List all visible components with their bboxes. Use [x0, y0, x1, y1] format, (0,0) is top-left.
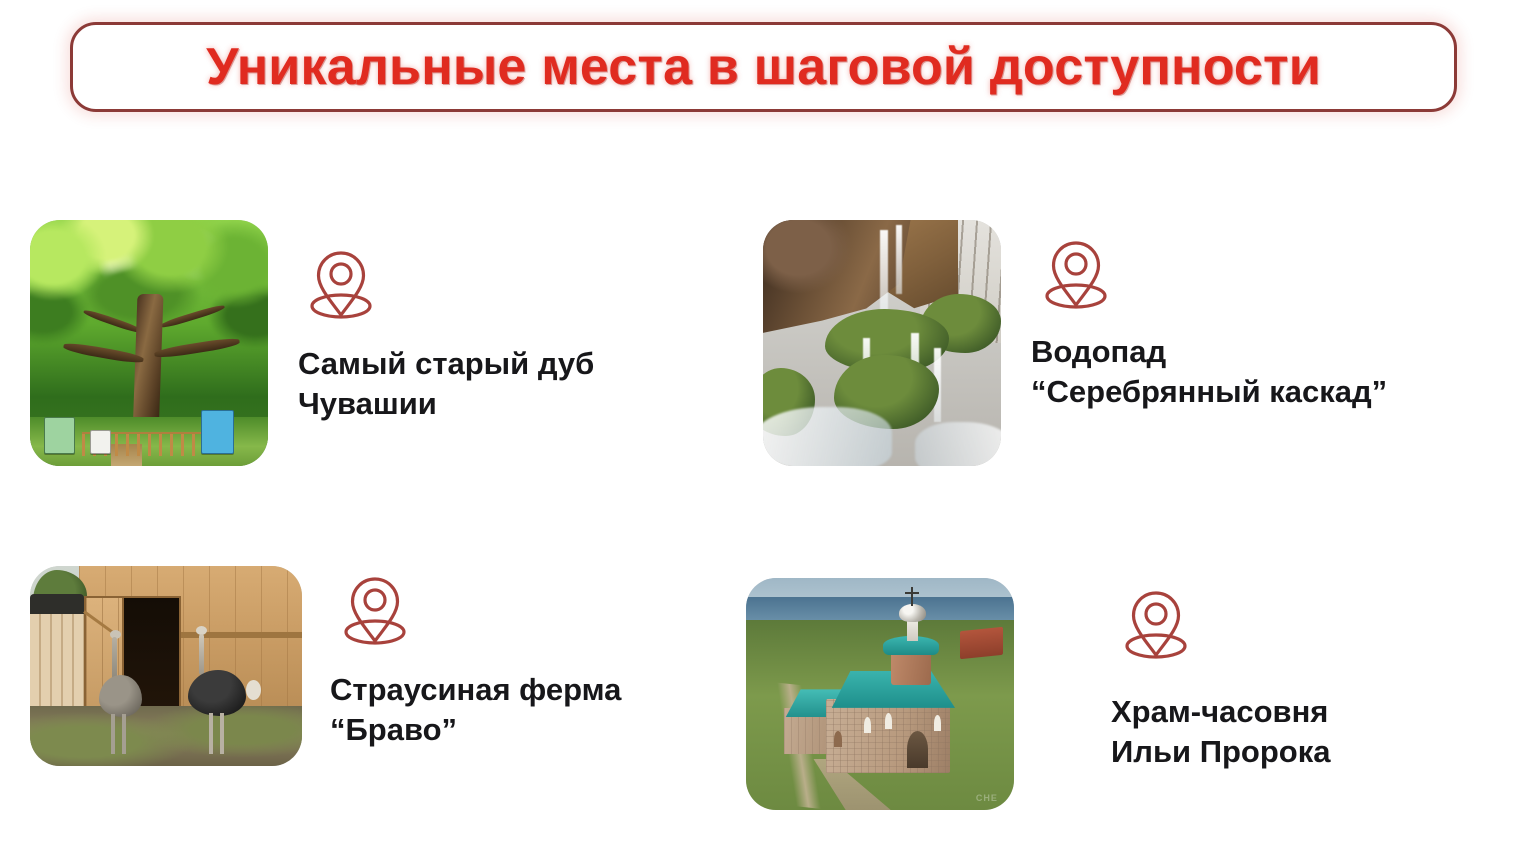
chapel-main-body	[826, 699, 949, 773]
place-card-old-oak: Самый старый дуб Чувашии	[30, 220, 594, 466]
waterfall-stream	[896, 225, 901, 294]
chapel-village-house	[960, 627, 1003, 659]
waterfall-pool	[763, 407, 892, 466]
old-oak-tree-photo	[30, 220, 268, 466]
chapel-entrance-porch	[907, 731, 928, 768]
oak-trunk	[132, 294, 163, 437]
ostrich-farm-photo	[30, 566, 302, 766]
ostrich-farm-scene	[30, 566, 302, 766]
waterfall-pool	[915, 422, 1001, 466]
map-pin-icon	[1125, 590, 1187, 662]
chapel-window	[934, 715, 941, 731]
place-caption: Водопад “Серебрянный каскад”	[1031, 332, 1387, 411]
ostrich-body	[99, 675, 142, 717]
photo-watermark: CHE	[976, 793, 998, 803]
ostrich-leg	[209, 713, 213, 754]
chapel-scene: CHE	[746, 578, 1014, 810]
map-pin-icon	[344, 576, 406, 648]
place-caption: Самый старый дуб Чувашии	[298, 344, 594, 423]
map-pin-icon	[1045, 240, 1107, 312]
waterfall-scene	[763, 220, 1001, 466]
place-label-column: Храм-часовня Ильи Пророка	[1111, 578, 1330, 771]
place-label-column: Водопад “Серебрянный каскад”	[1031, 220, 1387, 411]
chapel-church-photo: CHE	[746, 578, 1014, 810]
place-card-ostrich-farm: Страусиная ферма “Браво”	[30, 566, 621, 766]
oak-info-sign	[44, 417, 75, 453]
oak-info-sign	[90, 430, 111, 454]
place-caption: Страусиная ферма “Браво”	[330, 670, 621, 749]
ostrich-grey	[98, 630, 158, 754]
map-pin-icon	[310, 250, 372, 322]
ostrich-neck	[112, 637, 117, 679]
ostrich-body	[188, 670, 246, 716]
place-card-chapel: CHE Храм-часовня Ильи Пророка	[746, 578, 1330, 810]
page-title-banner: Уникальные места в шаговой доступности	[70, 22, 1457, 112]
chapel-dome	[899, 604, 926, 623]
ostrich-ground	[30, 706, 302, 766]
place-caption: Храм-часовня Ильи Пророка	[1111, 692, 1330, 771]
wooden-fence	[30, 614, 84, 710]
oak-info-sign	[201, 410, 234, 454]
place-card-waterfall: Водопад “Серебрянный каскад”	[763, 220, 1387, 466]
place-label-column: Страусиная ферма “Браво”	[330, 566, 621, 749]
chapel-window	[834, 731, 842, 747]
ostrich-neck	[199, 634, 204, 675]
waterfall-photo	[763, 220, 1001, 466]
oak-scene	[30, 220, 268, 466]
chapel-cross-icon	[911, 587, 913, 606]
ostrich-leg	[111, 714, 115, 754]
page-title: Уникальные места в шаговой доступности	[206, 37, 1321, 97]
ostrich-black	[188, 626, 259, 754]
chapel-window	[864, 717, 871, 733]
ostrich-leg	[122, 714, 126, 754]
place-label-column: Самый старый дуб Чувашии	[298, 220, 594, 423]
ostrich-leg	[220, 713, 224, 754]
